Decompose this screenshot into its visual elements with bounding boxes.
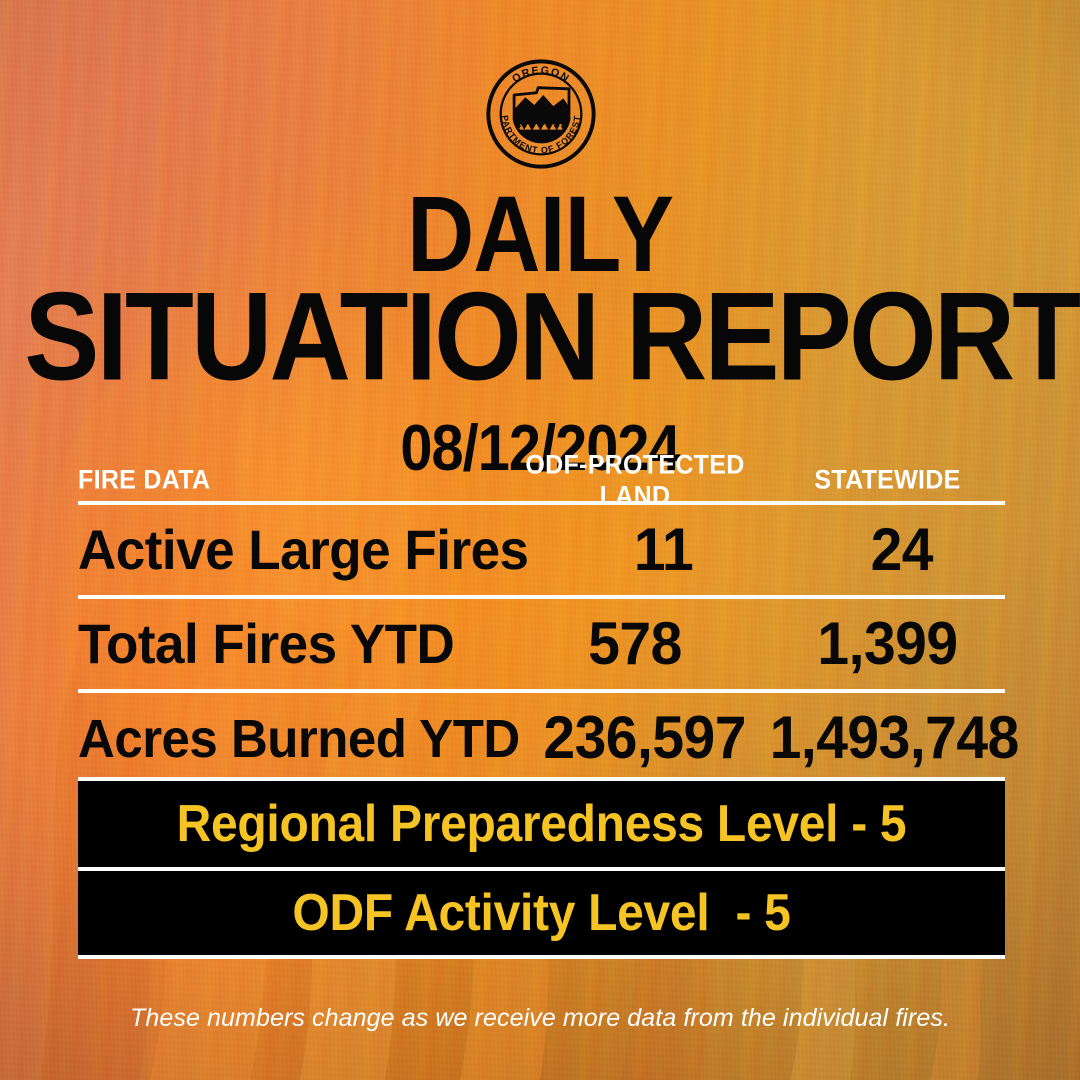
cell-active-large-fires-odf: 11 [529,515,799,584]
status-badge-odf-activity-level: ODF Activity Level - 5 [78,871,1005,955]
cell-active-large-fires-statewide: 24 [799,515,1005,584]
regional-preparedness-level-text: Regional Preparedness Level - 5 [177,794,907,853]
table-row: Acres Burned YTD 236,597 1,493,748 [78,693,1005,783]
poster-content: OREGON DEPARTMENT OF FORESTRY DAILY SITU… [0,0,1080,1080]
column-header-statewide: STATEWIDE [770,465,1005,496]
cell-acres-burned-ytd-odf: 236,597 [520,703,770,772]
page-title: DAILY SITUATION REPORT 08/12/2024 [0,186,1080,484]
status-badge-regional-preparedness-level: Regional Preparedness Level - 5 [78,781,1005,867]
footnote-disclaimer: These numbers change as we receive more … [0,1004,1080,1033]
table-header-row: FIRE DATA ODF-PROTECTED LAND STATEWIDE [78,460,1005,501]
row-label-total-fires-ytd: Total Fires YTD [78,612,500,676]
row-label-acres-burned-ytd: Acres Burned YTD [78,707,520,769]
table-row: Active Large Fires 11 24 [78,505,1005,595]
fire-data-table: FIRE DATA ODF-PROTECTED LAND STATEWIDE A… [78,460,1005,783]
odf-activity-level-text: ODF Activity Level - 5 [292,883,790,942]
column-header-fire-data: FIRE DATA [78,465,500,496]
cell-total-fires-ytd-statewide: 1,399 [770,609,1005,678]
row-label-active-large-fires: Active Large Fires [78,518,529,582]
preparedness-banners: Regional Preparedness Level - 5 ODF Acti… [78,777,1005,959]
title-line-2: SITUATION REPORT [24,280,1055,395]
column-header-odf-protected-land: ODF-PROTECTED LAND [500,450,770,511]
odf-seal-icon: OREGON DEPARTMENT OF FORESTRY [485,58,597,170]
banner-divider-bottom [78,955,1005,959]
cell-acres-burned-ytd-statewide: 1,493,748 [770,703,1019,772]
table-row: Total Fires YTD 578 1,399 [78,599,1005,689]
daily-situation-report-poster: OREGON DEPARTMENT OF FORESTRY DAILY SITU… [0,0,1080,1080]
cell-total-fires-ytd-odf: 578 [500,609,770,678]
